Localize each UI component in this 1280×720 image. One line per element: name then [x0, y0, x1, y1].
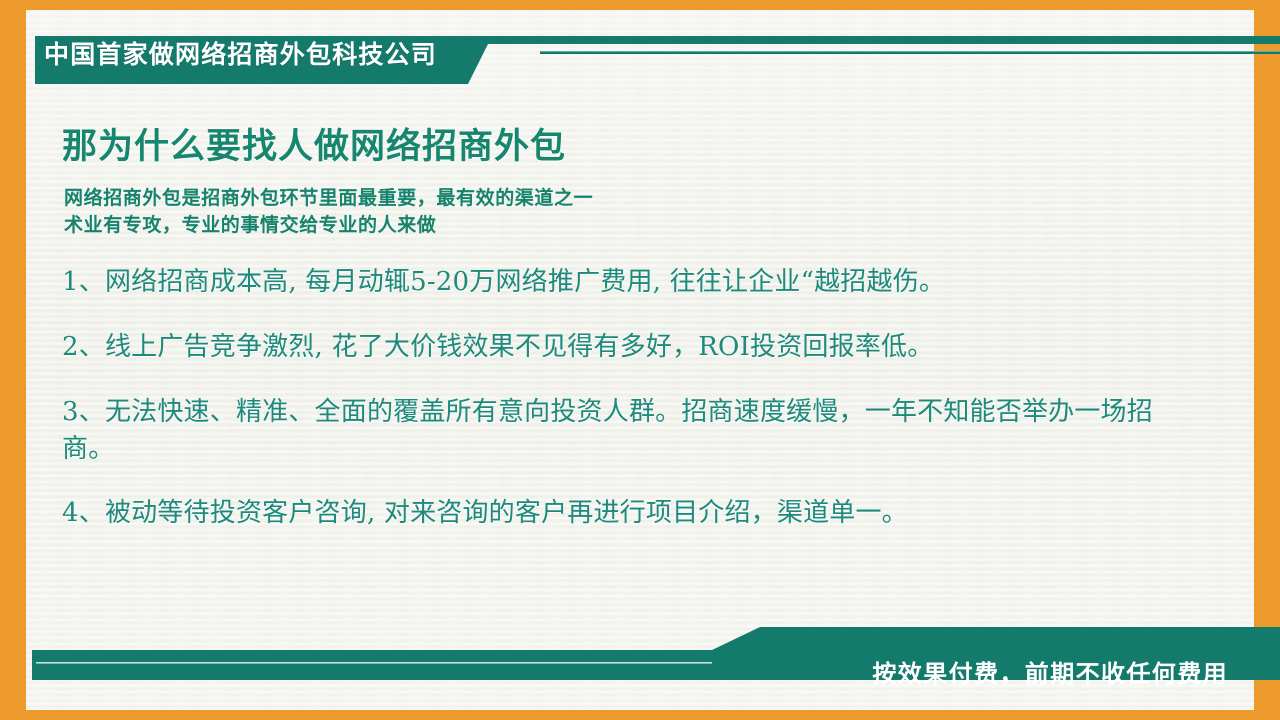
- list-item: 1、网络招商成本高, 每月动辄5-20万网络推广费用, 往往让企业“越招越伤。: [62, 264, 1182, 301]
- list-item: 4、被动等待投资客户咨询, 对来咨询的客户再进行项目介绍，渠道单一。: [62, 495, 1182, 532]
- slide: 中国首家做网络招商外包科技公司 那为什么要找人做网络招商外包 网络招商外包是招商…: [0, 0, 1280, 720]
- subtitle-line-2: 术业有专攻，专业的事情交给专业的人来做: [64, 212, 1220, 240]
- subtitle-block: 网络招商外包是招商外包环节里面最重要，最有效的渠道之一 术业有专攻，专业的事情交…: [64, 185, 1220, 240]
- page-title: 那为什么要找人做网络招商外包: [62, 126, 1220, 169]
- points-list: 1、网络招商成本高, 每月动辄5-20万网络推广费用, 往往让企业“越招越伤。 …: [62, 264, 1220, 533]
- slide-content: 那为什么要找人做网络招商外包 网络招商外包是招商外包环节里面最重要，最有效的渠道…: [62, 126, 1220, 532]
- list-item: 2、线上广告竞争激烈, 花了大价钱效果不见得有多好，ROI投资回报率低。: [62, 329, 1182, 366]
- subtitle-line-1: 网络招商外包是招商外包环节里面最重要，最有效的渠道之一: [64, 185, 1220, 213]
- list-item: 3、无法快速、精准、全面的覆盖所有意向投资人群。招商速度缓慢，一年不知能否举办一…: [62, 394, 1182, 468]
